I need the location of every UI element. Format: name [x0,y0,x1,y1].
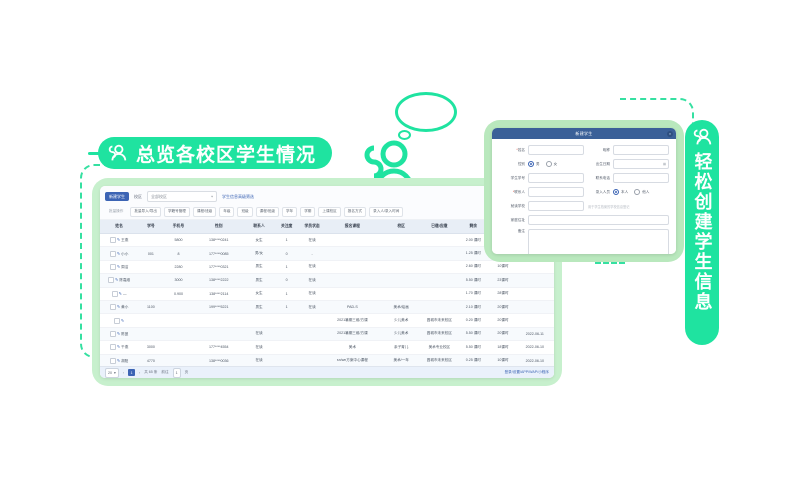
cell-mobile: 199****5221 [193,300,244,313]
edit-icon[interactable]: ✎ [121,318,124,323]
cell-campus [422,247,456,260]
dashed-connector-bottom [595,262,625,264]
cell-remain: 23课时 [490,274,515,287]
cell-name: ✎ 千燕 [100,341,138,354]
cell-campus [422,234,456,247]
cell-grade: 少儿美术 [380,314,422,327]
cell-status [299,327,324,340]
table-row[interactable]: ✎ 陈嘉维3000138****2222男生0在读5.50 课时23课时 [100,274,554,287]
cell-mobile: 177****4554 [193,341,244,354]
operator-option-self: 本人 [621,190,628,195]
jump-suffix: 页 [185,370,189,375]
cell-mobile: 138****2114 [193,287,244,300]
edit-icon[interactable]: ✎ [117,251,120,256]
gender-option-female: 女 [554,162,558,167]
cell-phone [164,341,194,354]
edit-icon[interactable]: ✎ [117,304,120,309]
campus-filter-select[interactable]: 全部校区 ▾ [147,191,217,202]
jump-prefix: 前往 [161,370,168,375]
cell-status [299,341,324,354]
chip-4[interactable]: 年级 [219,207,234,217]
edit-icon[interactable]: ✎ [117,344,120,349]
cell-campus [422,274,456,287]
birthdate-field[interactable]: ▦ [613,159,669,169]
form-row-address: 家庭住址 [499,215,669,225]
chip-3[interactable]: 课程/班级 [193,207,216,217]
cell-mobile: 138****2222 [193,274,244,287]
name-field[interactable] [528,145,584,155]
cell-grade: 亲子育儿 [380,341,422,354]
cell-attention: 1 [274,287,299,300]
row-checkbox[interactable] [110,331,116,337]
operator-radio-other[interactable]: 他人 [634,189,649,195]
cell-status: 在读 [299,274,324,287]
cell-course: 2021暑期三维/方课 [325,314,380,327]
row-checkbox[interactable] [114,318,120,324]
student-id-label: 学生学号 [499,176,528,181]
cell-mobile: 138****0241 [193,234,244,247]
cell-name: ✎ 周洁 [100,260,138,273]
cell-attention [274,327,299,340]
cell-phone: 3000 [164,274,194,287]
badge-overview: 总览各校区学生情况 [98,137,332,169]
cell-paid: 0.20 课时 [456,314,490,327]
cell-status: 在读 [299,260,324,273]
cell-campus: 昌城市未来校区 [422,327,456,340]
cell-course: PAD-S [325,300,380,313]
radio-dot-icon [528,161,534,167]
form-row-guardian: *联系人 录入人员 本人 他人 [499,187,669,197]
cell-attention: 1 [274,300,299,313]
cell-mobile: 177****0321 [193,260,244,273]
edit-icon[interactable]: ✎ [117,331,120,336]
page-size-select[interactable]: 20 ▾ [105,368,119,378]
chip-batch-label[interactable]: 批量操作 [105,207,127,217]
cell-sid [138,287,163,300]
operator-option-other: 他人 [642,190,649,195]
row-checkbox[interactable] [110,237,116,243]
cell-attention: 0 [274,274,299,287]
nickname-label: 昵称 [584,148,613,153]
cell-campus: 昌城市未来校区 [422,314,456,327]
school-label: 就读学校 [499,204,528,209]
cell-remain: 20课时 [490,314,515,327]
table-row[interactable]: ✎ 黄小1100199****5221男生1在读PAD-S美术/绘画2.10 课… [100,300,554,313]
cell-date [516,260,554,273]
modal-title: 新建学生 [575,131,592,137]
table-row[interactable]: ✎ —0.900138****2114女生1在读1.70 课时28课时 [100,287,554,300]
nickname-field[interactable] [613,145,669,155]
name-label: *姓名 [499,148,528,153]
cell-name: ✎ 黄小 [100,300,138,313]
next-page-button[interactable]: › [139,371,140,375]
chip-10[interactable]: 报名方式 [344,207,366,217]
form-row-school: 就读学校 用于学生档案的学校信息登记 [499,201,669,211]
row-checkbox[interactable] [112,291,118,297]
chip-8[interactable]: 学期 [300,207,315,217]
radio-dot-icon [634,189,640,195]
cell-status: 在读 [299,300,324,313]
cell-paid: 1.70 课时 [456,287,490,300]
campus-filter-value: 全部校区 [151,194,167,200]
cell-sid [138,234,163,247]
campus-filter-label: 校区 [134,194,142,200]
row-checkbox[interactable] [110,344,116,350]
cell-campus [422,287,456,300]
table-row[interactable]: ✎ 2021暑期三维/方课少儿美术昌城市未来校区0.20 课时20课时 [100,314,554,327]
form-row-remark: 备注 [499,229,669,254]
cell-sid [138,260,163,273]
total-count-text: 共 65 条 [144,370,157,375]
cell-mobile: 177****0085 [193,247,244,260]
guardian-label: *联系人 [499,190,528,195]
operator-label: 录入人员 [584,190,613,195]
cell-date [516,274,554,287]
cell-mobile [193,314,244,327]
chevron-down-icon: ▾ [211,195,213,199]
cell-phone: 2280 [164,260,194,273]
create-student-modal: 新建学生 × *姓名 昵称 性别 男 [492,128,676,254]
cell-contact [244,314,274,327]
student-id-field[interactable] [528,173,584,183]
cell-name: ✎ [100,314,138,327]
chip-9[interactable]: 上课校区 [318,207,340,217]
cell-contact: 在读 [244,341,274,354]
new-student-button[interactable]: 新建学生 [105,192,129,201]
cell-paid: 5.50 课时 [456,274,490,287]
cell-attention: 0 [274,247,299,260]
chip-2[interactable]: 学籍号管理 [164,207,190,217]
cell-paid: 5.50 课时 [456,341,490,354]
cell-contact: 男/女 [244,247,274,260]
row-checkbox[interactable] [110,264,116,270]
cell-phone: 8 [164,247,194,260]
school-hint: 用于学生档案的学校信息登记 [584,204,629,209]
cell-sid: 001 [138,247,163,260]
cell-grade: 少儿美术 [380,327,422,340]
col-grade[interactable]: 校区 [380,220,422,234]
cell-remain: 28课时 [490,287,515,300]
advanced-filter-link[interactable]: 学生信息高级筛选 [222,194,254,200]
cell-paid: 5.50 课时 [456,327,490,340]
poster-stage: 新建学生 校区 全部校区 ▾ 学生信息高级筛选 搜索 批量操作 批量导入/导出 … [0,0,800,500]
cell-remain: 20课时 [490,327,515,340]
cell-sid [138,327,163,340]
footer-links[interactable]: 登录/设置/APP/WAP/小程序 [505,370,549,375]
cell-mobile [193,327,244,340]
col-sid[interactable]: 学号 [138,220,163,234]
phone-field[interactable] [613,173,669,183]
cell-course [325,274,380,287]
chip-7[interactable]: 学年 [282,207,297,217]
cell-course: 美术 [325,341,380,354]
form-row-gender: 性别 男 女 出生日期 ▦ [499,159,669,169]
cell-name: ✎ 陈曼 [100,327,138,340]
cell-contact: 男生 [244,300,274,313]
chevron-down-icon: ▾ [114,371,116,375]
cell-phone [164,327,194,340]
cell-course [325,247,380,260]
cell-sid [138,274,163,287]
col-phone[interactable]: 手机号 [164,220,194,234]
cell-grade [380,287,422,300]
cell-name: ✎ — [100,287,138,300]
cell-remain: 20课时 [490,300,515,313]
edit-icon[interactable]: ✎ [117,358,120,363]
cell-sid [138,314,163,327]
chip-11[interactable]: 录入人/录入时间 [369,207,403,217]
chip-1[interactable]: 批量导入/导出 [130,207,161,217]
modal-header: 新建学生 × [492,128,676,139]
badge-create: 轻松创建学生信息 [685,120,719,345]
table-row[interactable]: ✎ 千燕3000177****4554在读美术亲子育儿美术专业校区5.50 课时… [100,341,554,354]
gender-label: 性别 [499,162,528,167]
cell-course: 2021暑期三维/方课 [325,327,380,340]
jump-input[interactable]: 1 [173,368,181,378]
address-label: 家庭住址 [499,218,528,223]
form-row-sid: 学生学号 联系电话 [499,173,669,183]
birthdate-label: 出生日期 [584,162,613,167]
page-size-value: 20 [108,371,112,375]
cell-attention [274,341,299,354]
gender-radio-female[interactable]: 女 [546,161,558,167]
cell-remain: 18课时 [490,341,515,354]
cell-contact: 在读 [244,327,274,340]
thought-bubble [395,92,457,132]
cell-attention: 1 [274,260,299,273]
pagination-bar: 20 ▾ ‹ 1 › 共 65 条 前往 1 页 登录/设置/APP/WAP/小… [100,366,554,378]
current-page-button[interactable]: 1 [128,369,135,376]
cell-paid: 2.60 课时 [456,260,490,273]
cell-grade [380,247,422,260]
cell-sid: 3000 [138,341,163,354]
col-attention[interactable]: 关注度 [274,220,299,234]
cell-phone [164,300,194,313]
table-row[interactable]: ✎ 周洁2280177****0321男生1在读2.60 课时10课时 [100,260,554,273]
col-mobile[interactable]: 性别 [193,220,244,234]
cell-phone [164,314,194,327]
cell-status: - [299,247,324,260]
cell-contact: 男生 [244,274,274,287]
col-status[interactable]: 学员状态 [299,220,324,234]
cell-course [325,234,380,247]
gender-option-male: 男 [536,162,540,167]
cell-grade [380,274,422,287]
cell-date [516,300,554,313]
col-course[interactable]: 报名课程 [325,220,380,234]
cell-paid: 2.10 课时 [456,300,490,313]
remark-textarea[interactable] [528,229,669,254]
cell-phone: 5800 [164,234,194,247]
people-icon [106,142,128,164]
prev-page-button[interactable]: ‹ [123,371,124,375]
remark-label: 备注 [499,229,528,234]
cell-status: 在读 [299,234,324,247]
radio-dot-icon [546,161,552,167]
phone-label: 联系电话 [584,176,613,181]
row-checkbox[interactable] [110,358,116,364]
edit-icon[interactable]: ✎ [117,237,120,242]
table-row[interactable]: ✎ 陈曼在读2021暑期三维/方课少儿美术昌城市未来校区5.50 课时20课时2… [100,327,554,340]
guardian-field[interactable] [528,187,584,197]
cell-date [516,287,554,300]
cell-course [325,260,380,273]
chip-6[interactable]: 课程/班级 [256,207,279,217]
cell-remain: 10课时 [490,260,515,273]
cell-sid: 1100 [138,300,163,313]
chip-5[interactable]: 班级 [237,207,252,217]
row-checkbox[interactable] [110,304,116,310]
row-checkbox[interactable] [110,251,116,257]
cell-name: ✎ 王燕 [100,234,138,247]
cell-attention [274,314,299,327]
cell-contact: 女生 [244,287,274,300]
cell-date: 2022-06-10 [516,341,554,354]
gender-radio-male[interactable]: 男 [528,161,540,167]
col-name[interactable]: 姓名 [100,220,138,234]
badge-create-label: 轻松创建学生信息 [693,152,712,312]
form-row-name: *姓名 昵称 [499,145,669,155]
edit-icon[interactable]: ✎ [117,264,120,269]
cell-date [516,314,554,327]
cell-contact: 女生 [244,234,274,247]
cell-name: ✎ 小小 [100,247,138,260]
modal-body: *姓名 昵称 性别 男 女 [492,139,676,254]
cell-phone: 0.900 [164,287,194,300]
school-field[interactable] [528,201,584,211]
cell-status [299,314,324,327]
cell-name: ✎ 陈嘉维 [100,274,138,287]
edit-icon[interactable]: ✎ [115,277,118,282]
cell-campus [422,300,456,313]
cell-attention: 1 [274,234,299,247]
operator-radio-self[interactable]: 本人 [613,189,628,195]
cell-course [325,287,380,300]
calendar-icon: ▦ [663,162,666,166]
row-checkbox[interactable] [108,277,114,283]
cell-date: 2022-06-11 [516,327,554,340]
cell-status: 在读 [299,287,324,300]
cell-contact: 男生 [244,260,274,273]
cell-grade [380,234,422,247]
cell-grade [380,260,422,273]
cell-grade: 美术/绘画 [380,300,422,313]
close-icon[interactable]: × [667,131,673,137]
badge-overview-label: 总览各校区学生情况 [136,140,316,167]
col-campus[interactable]: 已缴/应缴 [422,220,456,234]
cell-campus [422,260,456,273]
people-icon [691,126,713,148]
address-field[interactable] [528,215,669,225]
cell-campus: 美术专业校区 [422,341,456,354]
col-contact[interactable]: 联系人 [244,220,274,234]
edit-icon[interactable]: ✎ [119,291,122,296]
radio-dot-icon [613,189,619,195]
